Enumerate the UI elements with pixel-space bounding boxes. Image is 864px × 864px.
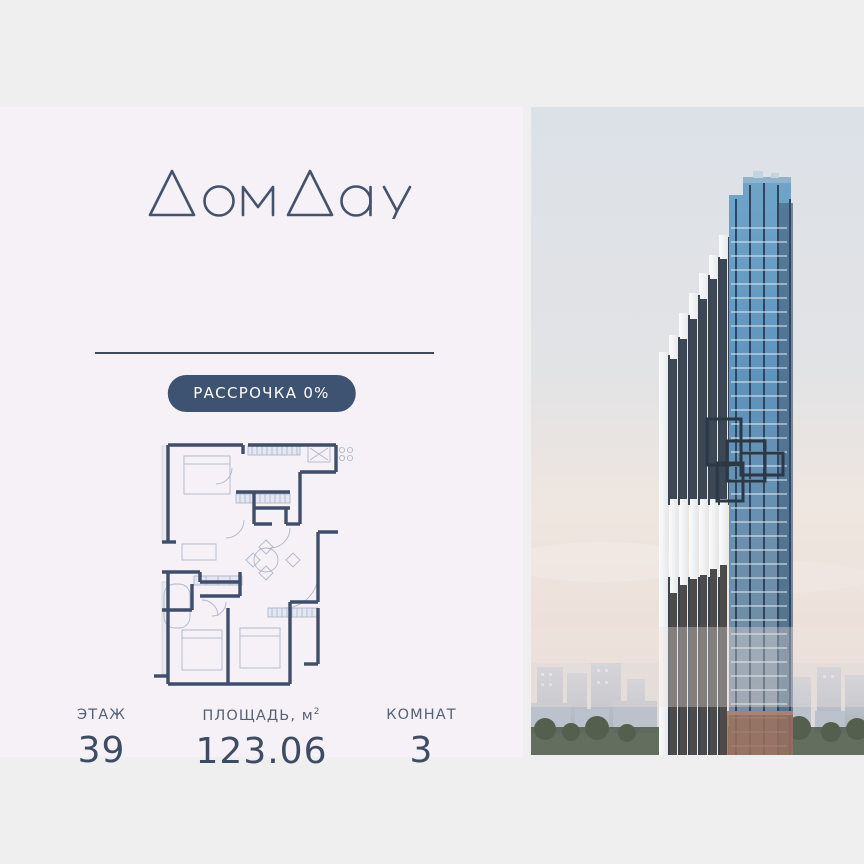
stat-area-unit-exponent: 2 — [314, 707, 321, 717]
stat-rooms: КОМНАТ 3 — [347, 707, 497, 769]
stat-rooms-value: 3 — [347, 733, 497, 769]
installment-badge: РАССРОЧКА 0% — [167, 375, 355, 412]
brand-logo — [0, 159, 523, 224]
stat-area-label: ПЛОЩАДЬ, м2 — [177, 707, 347, 724]
poster-canvas: РАССРОЧКА 0% — [0, 0, 864, 864]
horizon-haze — [531, 627, 864, 707]
stat-area: ПЛОЩАДЬ, м2 123.06 — [177, 707, 347, 770]
stat-rooms-label: КОМНАТ — [347, 707, 497, 723]
brand-logo-wordmark — [0, 159, 523, 219]
stat-area-label-text: ПЛОЩАДЬ, м — [202, 708, 313, 724]
floor-plan — [140, 432, 400, 697]
stat-area-value: 123.06 — [177, 734, 347, 770]
stat-floor: ЭТАЖ 39 — [27, 707, 177, 769]
header-divider — [95, 352, 434, 354]
listing-info-card: РАССРОЧКА 0% — [0, 107, 523, 757]
building-photo-render — [531, 107, 864, 755]
building-photo — [531, 107, 864, 755]
stat-floor-label: ЭТАЖ — [27, 707, 177, 723]
floor-plan-drawing — [140, 432, 400, 697]
stat-floor-value: 39 — [27, 733, 177, 769]
listing-stats: ЭТАЖ 39 ПЛОЩАДЬ, м2 123.06 КОМНАТ 3 — [0, 707, 523, 770]
tower-podium — [727, 711, 793, 755]
